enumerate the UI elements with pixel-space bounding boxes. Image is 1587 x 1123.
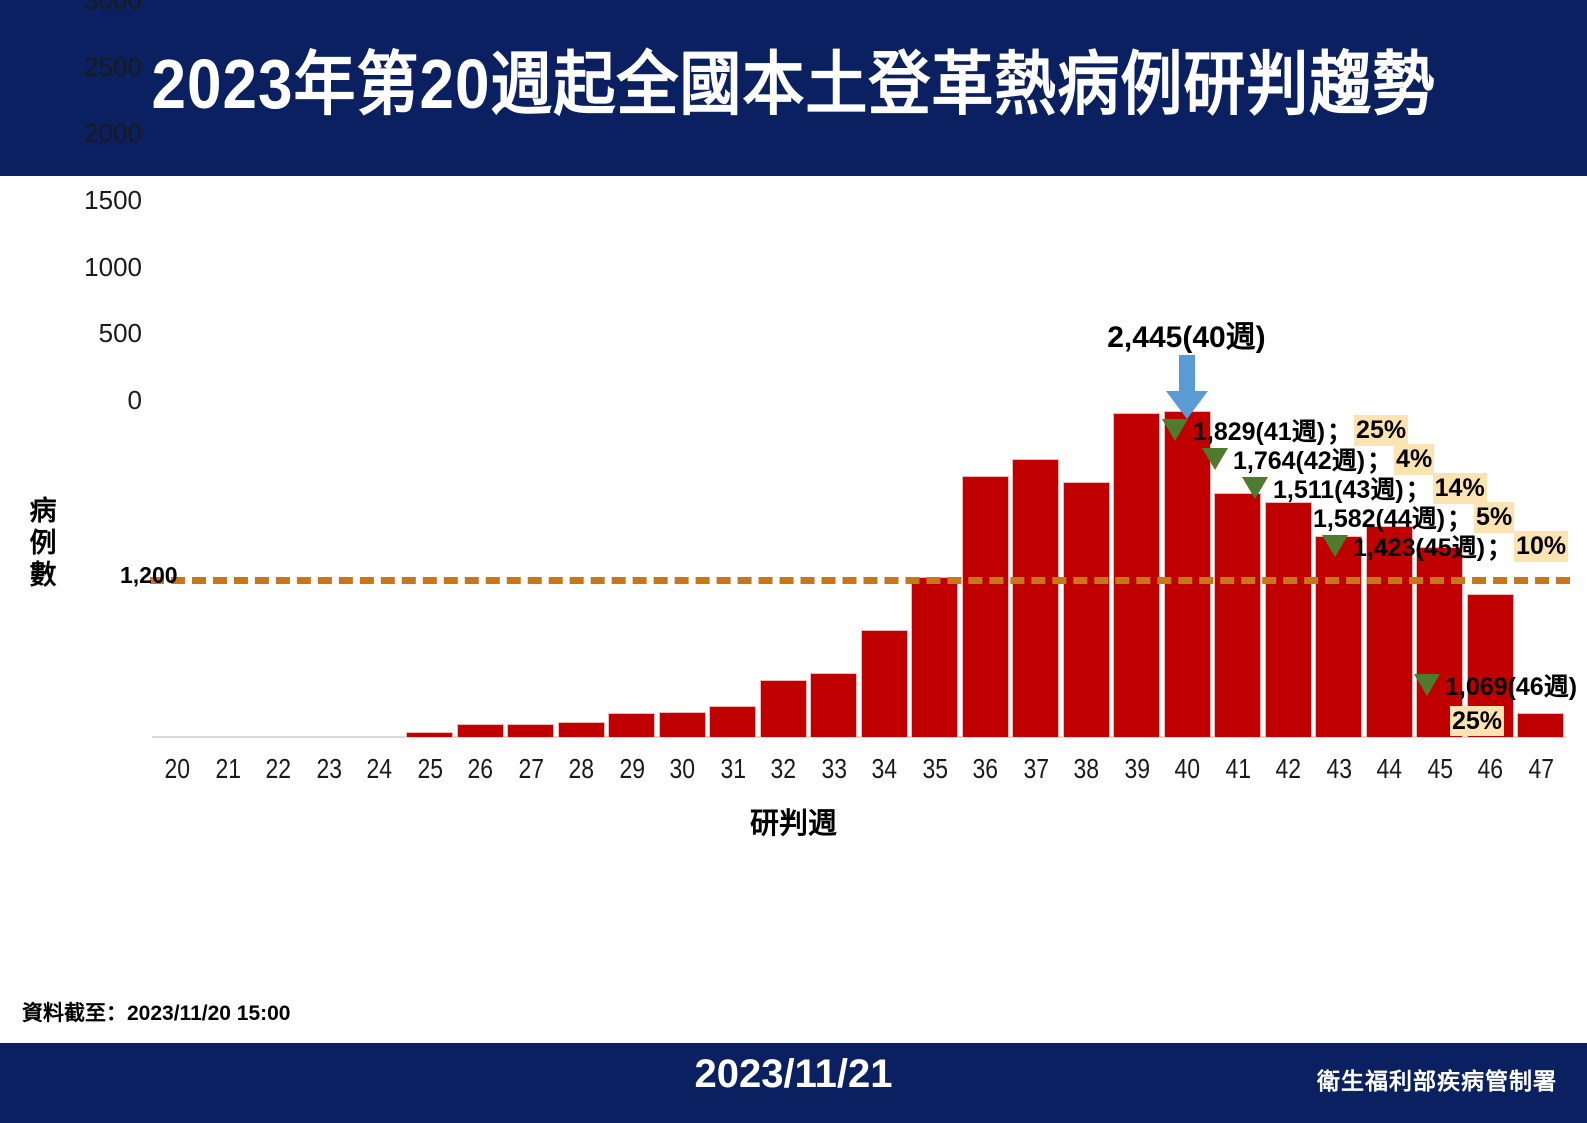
x-axis-tick-28: 28	[561, 752, 602, 786]
triangle-up-icon	[1282, 506, 1308, 528]
x-axis-tick-26: 26	[460, 752, 501, 786]
x-axis-tick-35: 35	[914, 752, 955, 786]
x-axis-tick-27: 27	[510, 752, 551, 786]
bar-week-30	[659, 712, 706, 737]
x-axis-tick-34: 34	[864, 752, 905, 786]
weekly-change-value: 1,423(45週)	[1353, 528, 1485, 564]
y-axis-ticks: 050010001500200025003000	[22, 0, 142, 400]
weekly-change-separator: ；	[1485, 528, 1514, 564]
bar-week-29	[608, 713, 655, 737]
x-axis-tick-47: 47	[1520, 752, 1561, 786]
x-axis-tick-44: 44	[1369, 752, 1410, 786]
x-axis-tick-39: 39	[1116, 752, 1157, 786]
triangle-down-icon	[1242, 477, 1268, 499]
triangle-down-icon	[1202, 448, 1228, 470]
x-axis-tick-31: 31	[712, 752, 753, 786]
x-axis-tick-42: 42	[1268, 752, 1309, 786]
bar-week-37	[1012, 459, 1059, 737]
source-note: 資料截至：2023/11/20 15:00	[22, 997, 291, 1027]
bar-week-32	[760, 680, 807, 737]
x-axis-tick-30: 30	[662, 752, 703, 786]
bar-week-31	[709, 706, 756, 737]
weekly-change-5: 1,423(45週)；10%	[1322, 528, 1568, 564]
x-axis-title: 研判週	[0, 800, 1587, 842]
x-axis-tick-32: 32	[763, 752, 804, 786]
y-axis-tick: 2500	[32, 54, 142, 80]
y-axis-tick: 1500	[32, 187, 142, 213]
x-axis-tick-20: 20	[157, 752, 198, 786]
x-axis-tick-40: 40	[1167, 752, 1208, 786]
triangle-down-icon	[1322, 535, 1348, 557]
x-axis-tick-22: 22	[258, 752, 299, 786]
weekly-change-percent: 25%	[1450, 706, 1504, 736]
peak-callout-label: 2,445(40週)	[1107, 312, 1265, 356]
x-axis-tick-38: 38	[1066, 752, 1107, 786]
x-axis-tick-21: 21	[207, 752, 248, 786]
bar-week-35	[911, 577, 958, 737]
bar-week-27	[507, 724, 554, 737]
y-axis-tick: 500	[32, 320, 142, 346]
weekly-change-value: 1,069(46週) ；	[1445, 667, 1587, 703]
slide-root: 2023年第20週起全國本土登革熱病例研判趨勢 病例數 050010001500…	[0, 0, 1587, 1123]
x-axis-tick-43: 43	[1318, 752, 1359, 786]
bar-week-28	[558, 722, 605, 737]
y-axis-tick: 1000	[32, 254, 142, 280]
x-axis-tick-46: 46	[1470, 752, 1511, 786]
x-axis-tick-29: 29	[611, 752, 652, 786]
weekly-change-percent: 10%	[1514, 531, 1568, 562]
x-axis-tick-45: 45	[1419, 752, 1460, 786]
x-axis-tick-23: 23	[308, 752, 349, 786]
x-axis-tick-36: 36	[965, 752, 1006, 786]
y-axis-tick: 2000	[32, 120, 142, 146]
y-axis-tick: 3000	[32, 0, 142, 13]
bar-week-39	[1113, 413, 1160, 737]
y-axis-title: 病例數	[26, 495, 60, 591]
y-axis-tick: 0	[32, 387, 142, 413]
bar-week-42	[1265, 502, 1312, 737]
bar-week-36	[962, 476, 1009, 737]
x-axis-tick-37: 37	[1015, 752, 1056, 786]
x-axis-ticks: 2021222324252627282930313233343536373839…	[152, 752, 1566, 792]
triangle-down-icon	[1162, 419, 1188, 441]
x-axis-tick-41: 41	[1217, 752, 1258, 786]
bar-week-38	[1063, 482, 1110, 737]
x-axis-tick-33: 33	[813, 752, 854, 786]
bar-week-34	[861, 630, 908, 737]
page-title: 2023年第20週起全國本土登革熱病例研判趨勢	[0, 42, 1587, 129]
bar-week-41	[1214, 493, 1261, 737]
x-axis-tick-24: 24	[359, 752, 400, 786]
bar-week-43	[1315, 536, 1362, 737]
bar-week-25	[406, 732, 453, 737]
triangle-down-icon	[1414, 674, 1440, 696]
weekly-change-6: 1,069(46週) ；25%	[1414, 667, 1587, 736]
x-axis-tick-25: 25	[409, 752, 450, 786]
footer-organization: 衛生福利部疾病管制署	[1317, 1062, 1557, 1096]
bar-week-33	[810, 673, 857, 737]
bar-week-26	[457, 724, 504, 737]
threshold-label: 1,200	[120, 562, 178, 589]
threshold-line	[150, 577, 1570, 584]
